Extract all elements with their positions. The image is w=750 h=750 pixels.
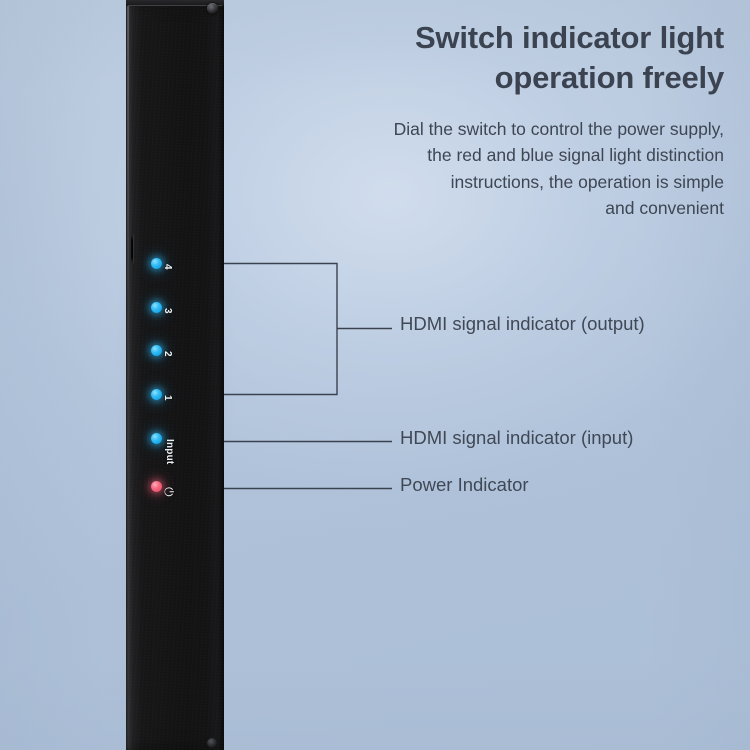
body-line-1: Dial the switch to control the power sup… [292,116,724,142]
screw-icon [207,3,218,14]
body-line-2: the red and blue signal light distinctio… [292,142,724,168]
led-output-4-label: 4 [157,264,179,270]
led-indicator-row: 1 [126,384,224,406]
led-indicator-row: 3 [126,297,224,319]
callout-power: Power Indicator [400,474,529,496]
led-indicator-row: Input [126,428,224,450]
callout-hdmi-output: HDMI signal indicator (output) [400,313,645,335]
description-paragraph: Dial the switch to control the power sup… [292,116,724,221]
callout-hdmi-input: HDMI signal indicator (input) [400,427,633,449]
device-edge-highlight [127,2,129,748]
led-output-3-label: 3 [157,308,179,314]
led-input-label: Input [159,439,181,464]
product-feature-image: 4 3 2 1 Input ⏻ Switch ind [0,0,750,750]
body-line-3: instructions, the operation is simple [292,169,724,195]
led-indicator-row: 4 [126,253,224,275]
background-vignette [0,0,750,750]
page-title: Switch indicator light operation freely [294,18,724,99]
power-symbol-icon: ⏻ [158,487,180,497]
led-indicator-row: 2 [126,340,224,362]
screw-icon [207,738,217,748]
led-output-2-label: 2 [157,351,179,357]
led-output-1-label: 1 [157,395,179,401]
heading-line-1: Switch indicator light [294,18,724,58]
device-surface-texture [126,0,224,750]
led-indicator-row: ⏻ [126,476,224,498]
body-line-4: and convenient [292,195,724,221]
hdmi-switch-device: 4 3 2 1 Input ⏻ [126,0,224,750]
heading-line-2: operation freely [294,58,724,98]
